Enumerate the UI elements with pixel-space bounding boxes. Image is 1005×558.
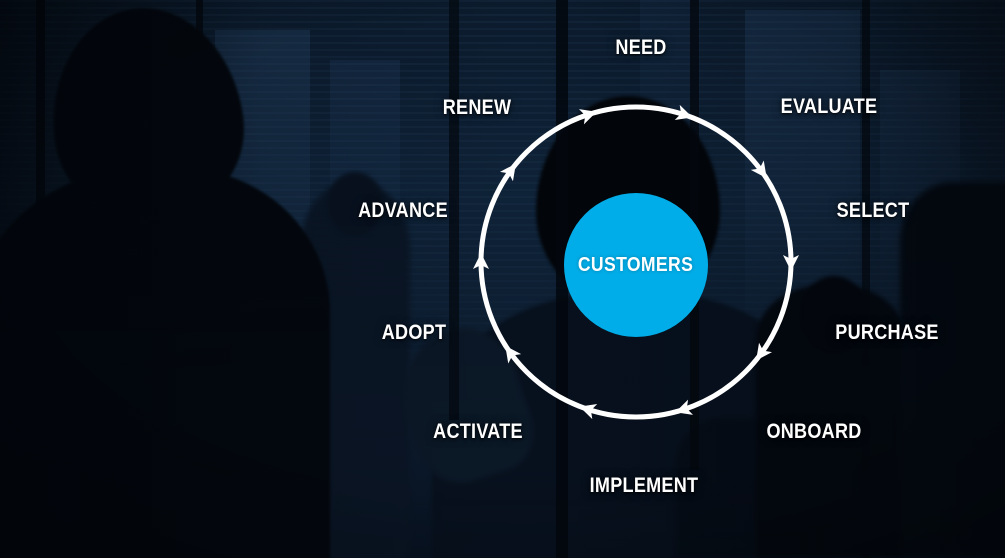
stage-label-advance[interactable]: ADVANCE (358, 199, 448, 223)
hub-label: CUSTOMERS (578, 254, 693, 277)
stage-label-adopt[interactable]: ADOPT (382, 321, 447, 345)
stage-label-need[interactable]: NEED (615, 36, 666, 60)
cycle-ring-svg (0, 0, 1005, 558)
stage-label-select[interactable]: SELECT (837, 199, 910, 223)
stage-label-evaluate[interactable]: EVALUATE (781, 95, 878, 119)
stage-label-purchase[interactable]: PURCHASE (835, 321, 938, 345)
customer-lifecycle-diagram: CUSTOMERS NEEDEVALUATESELECTPURCHASEONBO… (0, 0, 1005, 558)
stage-label-implement[interactable]: IMPLEMENT (590, 474, 699, 498)
cycle-infographic: CUSTOMERS NEEDEVALUATESELECTPURCHASEONBO… (0, 0, 1005, 558)
stage-label-activate[interactable]: ACTIVATE (433, 420, 523, 444)
stage-label-onboard[interactable]: ONBOARD (766, 420, 861, 444)
stage-label-renew[interactable]: RENEW (443, 96, 512, 120)
hub-circle: CUSTOMERS (564, 193, 708, 337)
